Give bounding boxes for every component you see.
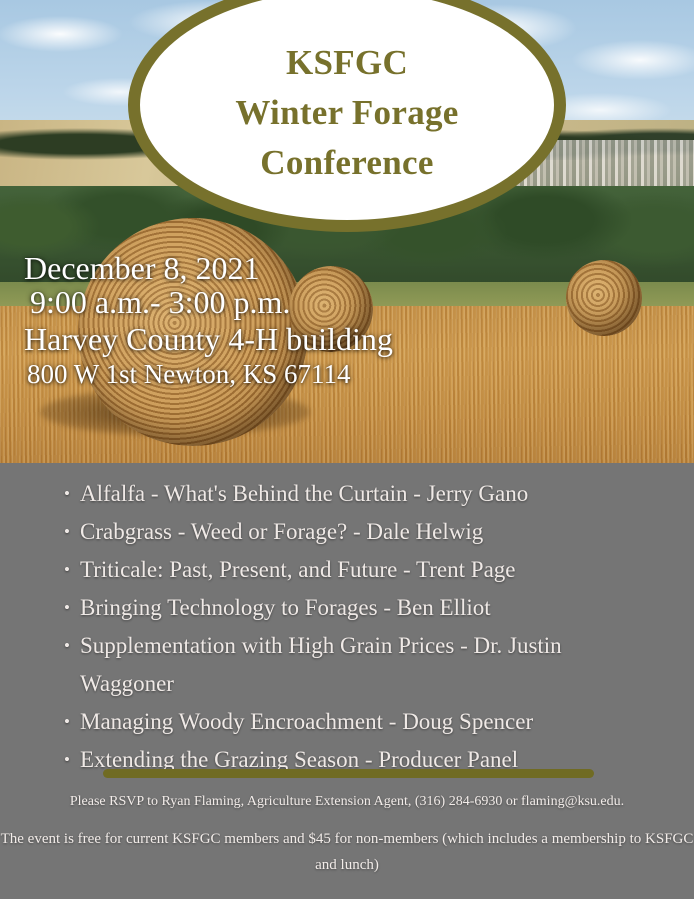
footer-info: Please RSVP to Ryan Flaming, Agriculture… [0,791,694,879]
list-item: Alfalfa - What's Behind the Curtain - Je… [64,475,644,513]
event-time: 9:00 a.m.- 3:00 p.m. [24,285,484,321]
list-item: Supplementation with High Grain Prices -… [64,627,644,703]
olive-divider-bar [103,769,594,778]
list-item: Bringing Technology to Forages - Ben Ell… [64,589,644,627]
hay-bale-right [566,260,642,336]
event-details: December 8, 2021 9:00 a.m.- 3:00 p.m. Ha… [24,252,484,391]
flyer-page: KSFGC Winter Forage Conference December … [0,0,694,899]
title-line-organization: KSFGC [286,38,408,88]
event-date: December 8, 2021 [24,252,484,285]
list-item: Crabgrass - Weed or Forage? - Dale Helwi… [64,513,644,551]
list-item: Triticale: Past, Present, and Future - T… [64,551,644,589]
agenda-panel: Alfalfa - What's Behind the Curtain - Je… [0,463,694,899]
event-venue: Harvey County 4-H building [24,321,484,358]
title-line-conference: Conference [260,138,433,188]
list-item: Managing Woody Encroachment - Doug Spenc… [64,703,644,741]
event-address: 800 W 1st Newton, KS 67114 [24,358,484,391]
registration-fee-line: The event is free for current KSFGC memb… [0,826,694,879]
session-list: Alfalfa - What's Behind the Curtain - Je… [64,475,644,779]
rsvp-contact-line: Please RSVP to Ryan Flaming, Agriculture… [0,791,694,812]
title-line-event: Winter Forage [235,88,458,138]
